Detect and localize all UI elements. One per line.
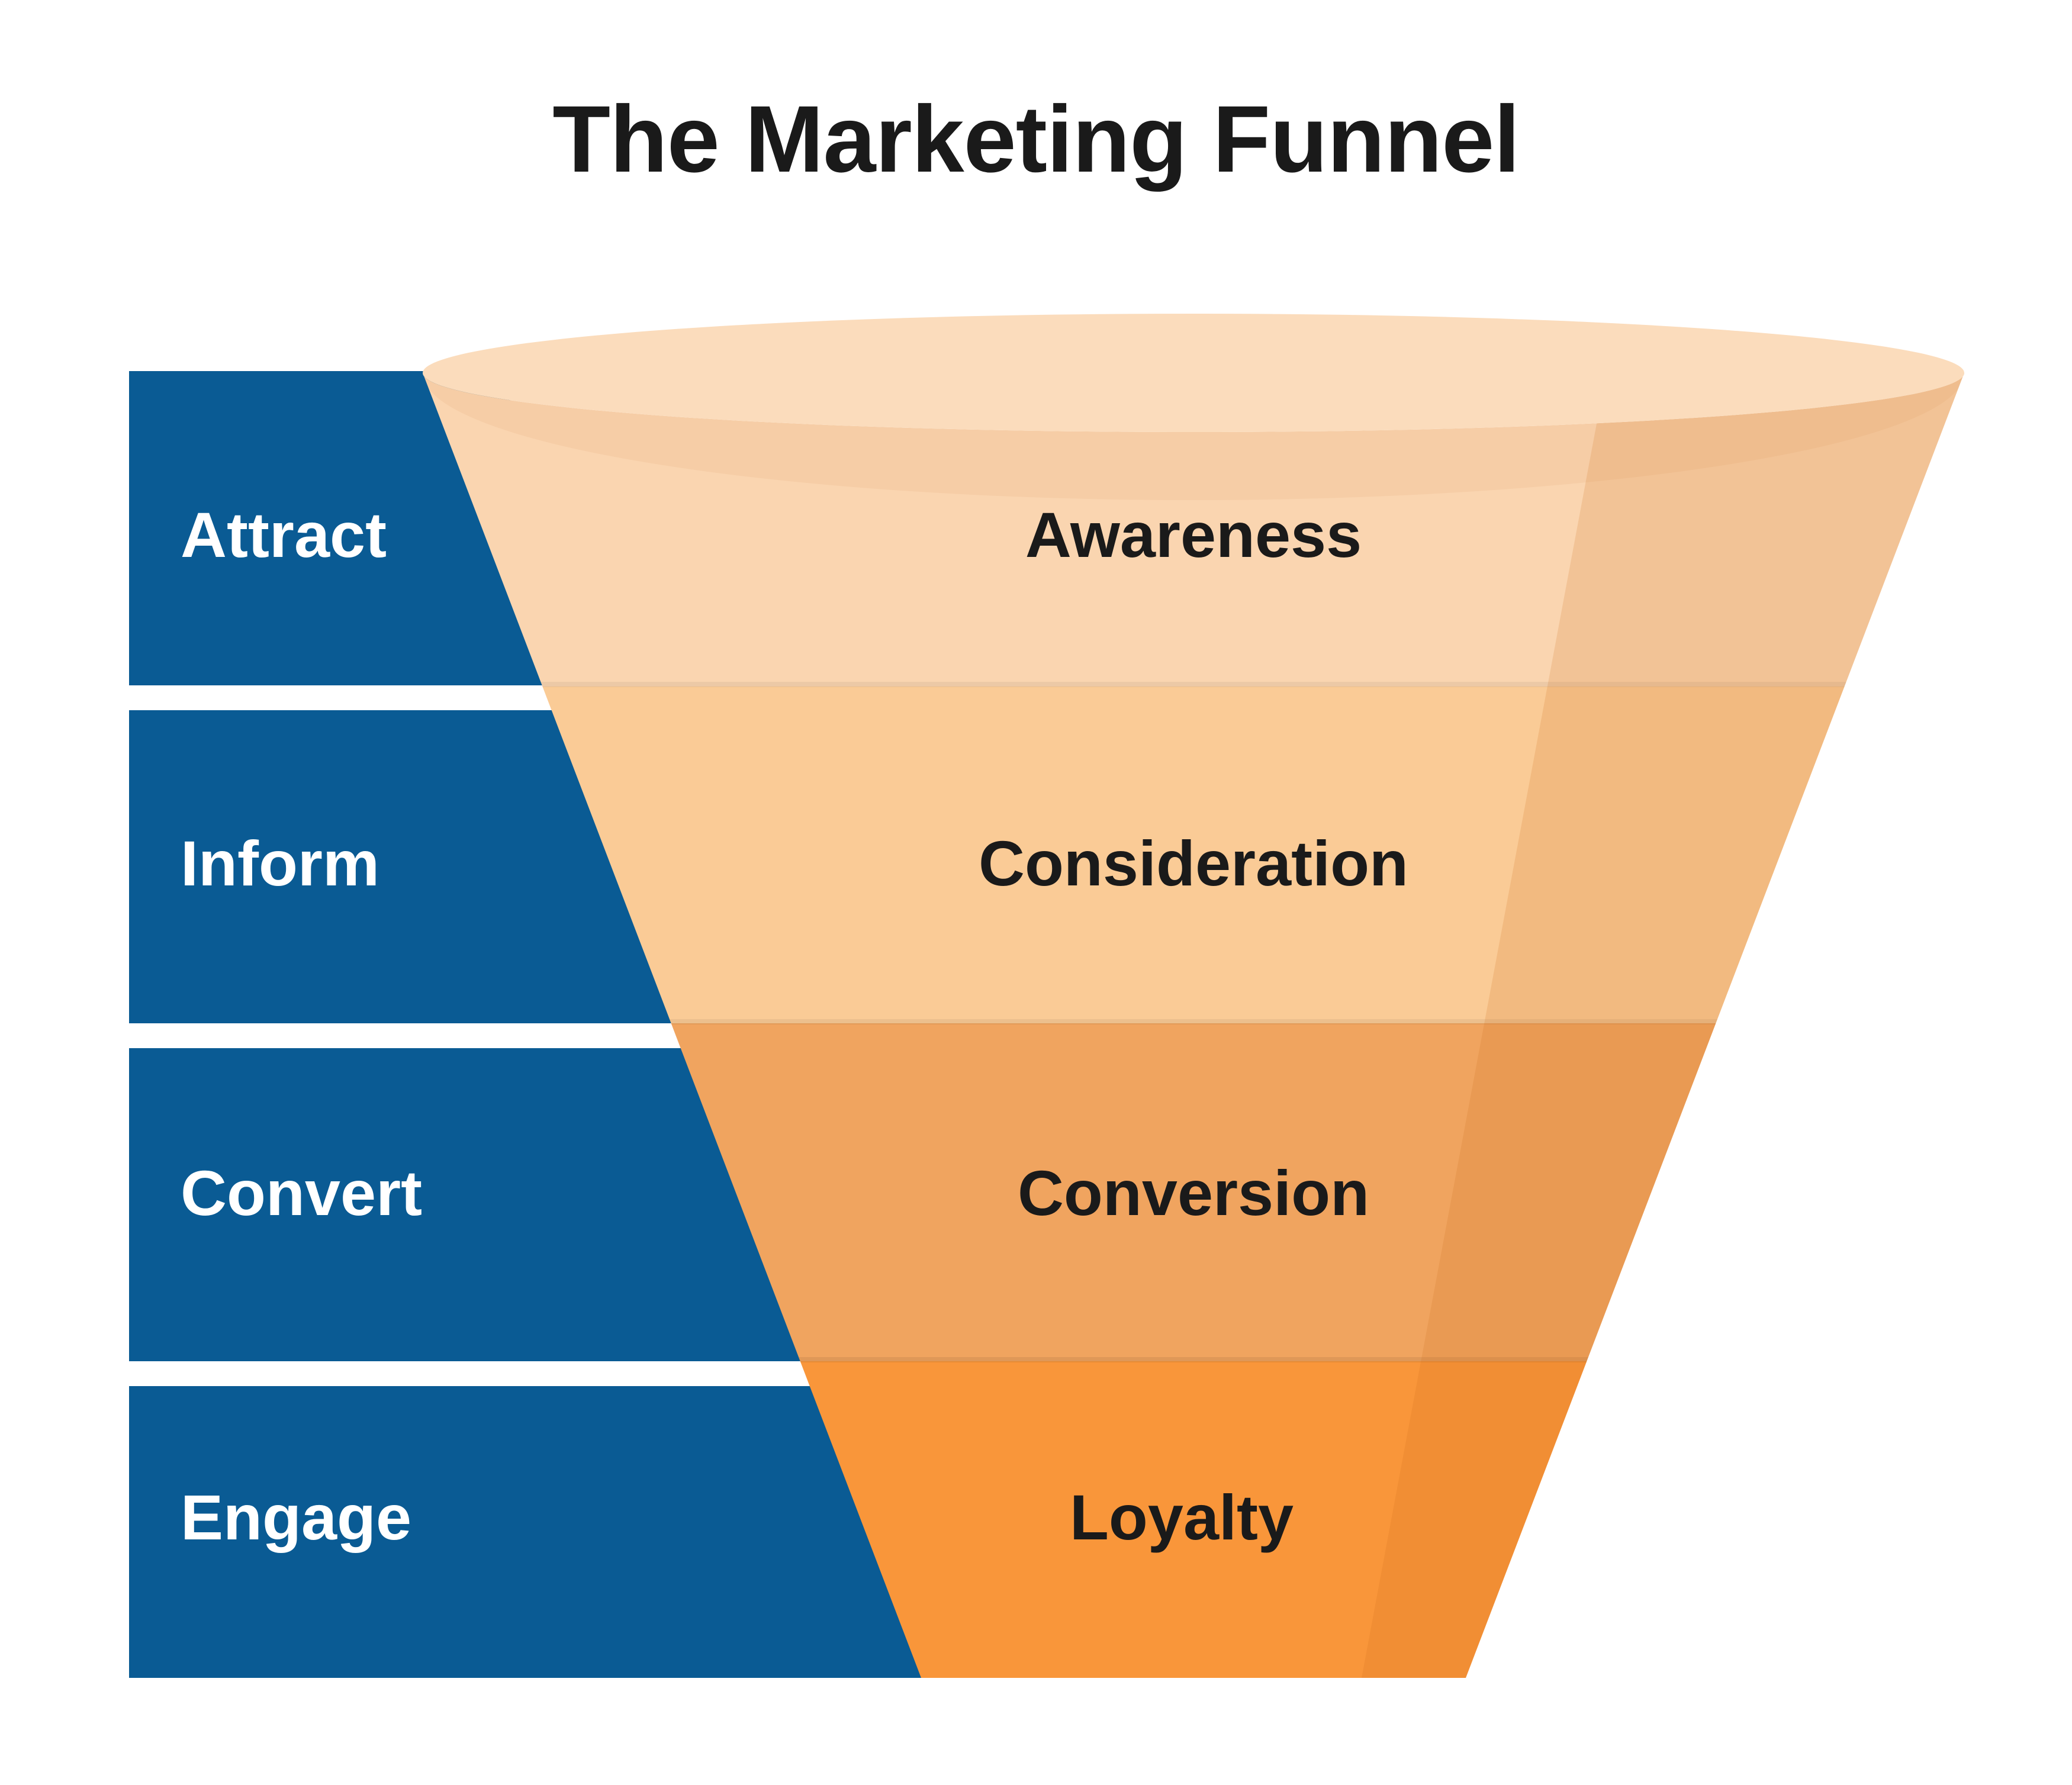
side-label-inform: Inform — [181, 832, 379, 895]
stage-label-conversion: Conversion — [897, 1161, 1489, 1225]
side-label-attract: Attract — [181, 503, 387, 567]
stage-label-awareness: Awareness — [897, 503, 1489, 567]
stage-label-loyalty: Loyalty — [915, 1486, 1448, 1549]
side-label-convert: Convert — [181, 1161, 422, 1225]
stage-label-consideration: Consideration — [838, 832, 1549, 895]
side-label-engage: Engage — [181, 1486, 411, 1549]
marketing-funnel-diagram: The Marketing Funnel — [0, 0, 2072, 1785]
funnel-top-face — [423, 314, 1964, 432]
